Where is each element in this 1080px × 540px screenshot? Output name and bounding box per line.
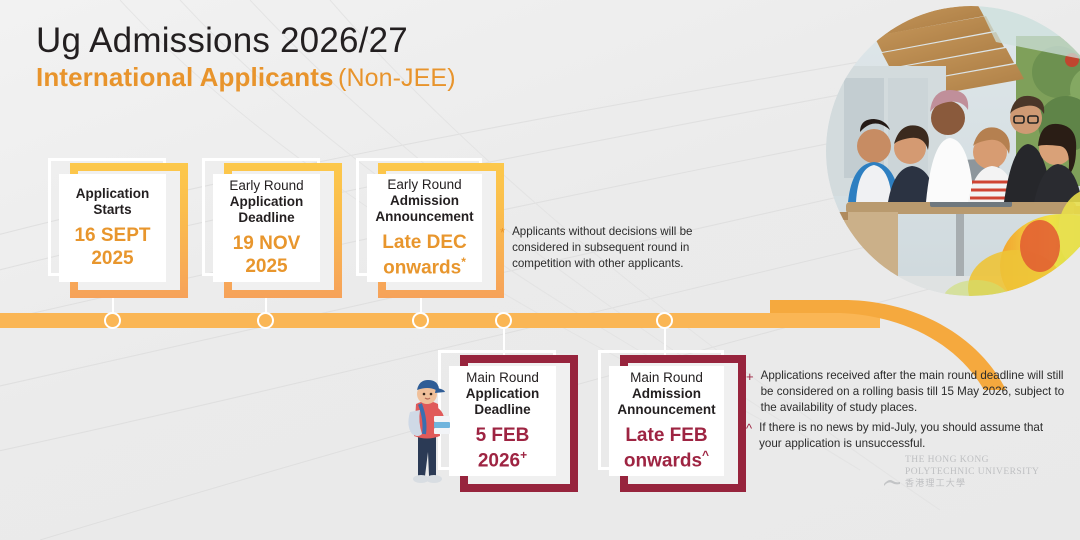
note-plus: + Applications received after the main r… <box>746 368 1066 417</box>
card-date-marker: + <box>520 448 527 462</box>
card-line2: Starts <box>93 202 131 218</box>
card-date-line1: 16 SEPT <box>74 225 150 246</box>
card-date-line2: onwards <box>383 257 461 278</box>
card-body: Main Round Admission Announcement Late F… <box>609 366 724 476</box>
card-body: Application Starts 16 SEPT 2025 <box>59 174 166 282</box>
student-illustration <box>396 372 460 488</box>
asterisk-marker: * <box>500 224 505 273</box>
plus-marker: + <box>746 368 754 417</box>
card-line1: Application <box>76 186 150 202</box>
card-line2: Deadline <box>474 402 530 418</box>
card-line1: Application <box>230 194 304 210</box>
card-body: Early Round Admission Announcement Late … <box>367 174 482 282</box>
card-line1: Admission <box>390 193 459 209</box>
card-body: Early Round Application Deadline 19 NOV … <box>213 174 320 282</box>
card-line1: Application <box>466 386 540 402</box>
timeline-card-early-round-admission-announcement[interactable]: Early Round Admission Announcement Late … <box>356 158 504 298</box>
subtitle-bold: International Applicants <box>36 62 334 92</box>
card-round: Early Round <box>387 177 461 193</box>
card-date: 16 SEPT 2025 <box>74 225 150 270</box>
logo-line-1: THE HONG KONG <box>905 455 1065 467</box>
card-date-line2: 2026 <box>478 450 520 471</box>
timeline-card-main-round-admission-announcement[interactable]: Main Round Admission Announcement Late F… <box>598 350 746 492</box>
card-date-line1: Late DEC <box>382 232 466 253</box>
card-round: Main Round <box>466 370 539 386</box>
note-asterisk: * Applicants without decisions will be c… <box>500 224 712 273</box>
plus-text: Applications received after the main rou… <box>761 368 1066 417</box>
timeline-bar <box>0 313 880 328</box>
card-date-line1: 19 NOV <box>233 233 301 254</box>
logo-line-3: 香港理工大學 <box>905 479 1065 491</box>
card-round: Main Round <box>630 370 703 386</box>
poster-header: Ug Admissions 2026/27 International Appl… <box>36 22 456 93</box>
page-title: Ug Admissions 2026/27 <box>36 22 456 59</box>
subtitle-normal: (Non-JEE) <box>338 64 456 92</box>
card-round: Early Round <box>229 178 303 194</box>
timeline-node-3 <box>412 312 429 329</box>
card-date: Late FEB onwards^ <box>624 425 709 472</box>
card-date-line2: 2025 <box>91 248 133 269</box>
card-body: Main Round Application Deadline 5 FEB 20… <box>449 366 556 476</box>
polyu-logo-mark <box>883 475 901 487</box>
card-date-marker: * <box>461 255 466 269</box>
card-date: Late DEC onwards* <box>382 232 466 279</box>
card-date-line2: 2025 <box>245 256 287 277</box>
card-line1: Admission <box>632 386 701 402</box>
note-caret: ^ If there is no news by mid-July, you s… <box>746 420 1066 452</box>
timeline-node-2 <box>257 312 274 329</box>
logo-line-2: POLYTECHNIC UNIVERSITY <box>905 467 1065 479</box>
page-subtitle: International Applicants (Non-JEE) <box>36 63 456 93</box>
poster-canvas: Ug Admissions 2026/27 International Appl… <box>0 0 1080 540</box>
card-line2: Announcement <box>375 209 473 225</box>
card-date-marker: ^ <box>702 448 709 462</box>
timeline-card-early-round-application-deadline[interactable]: Early Round Application Deadline 19 NOV … <box>202 158 342 298</box>
timeline-card-application-starts[interactable]: Application Starts 16 SEPT 2025 <box>48 158 188 298</box>
card-line2: Deadline <box>238 210 294 226</box>
card-date: 5 FEB 2026+ <box>476 425 530 472</box>
card-date-line1: Late FEB <box>625 425 707 446</box>
caret-text: If there is no news by mid-July, you sho… <box>759 420 1066 452</box>
caret-marker: ^ <box>746 420 752 452</box>
asterisk-text: Applicants without decisions will be con… <box>512 224 712 273</box>
card-line2: Announcement <box>617 402 715 418</box>
timeline-node-5 <box>656 312 673 329</box>
card-date-line1: 5 FEB <box>476 425 530 446</box>
card-date-line2: onwards <box>624 450 702 471</box>
polyu-logo: THE HONG KONG POLYTECHNIC UNIVERSITY 香港理… <box>905 455 1065 490</box>
timeline-node-1 <box>104 312 121 329</box>
timeline-node-4 <box>495 312 512 329</box>
card-date: 19 NOV 2025 <box>233 233 301 278</box>
